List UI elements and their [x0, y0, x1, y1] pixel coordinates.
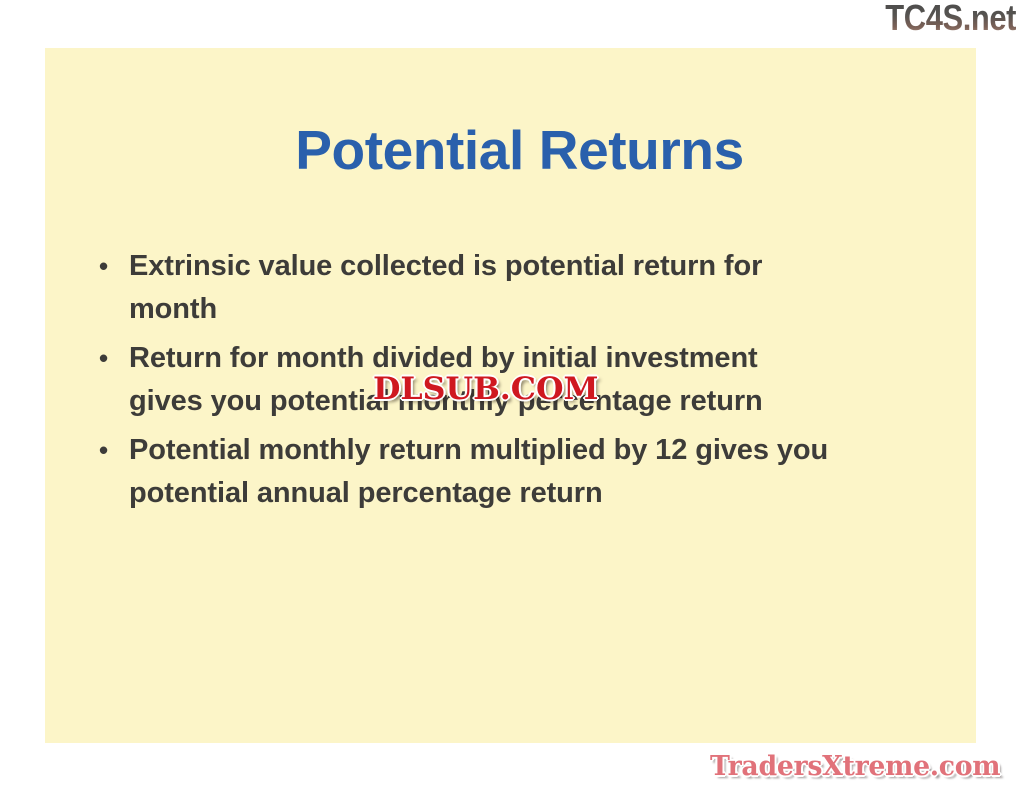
bullet-dot-icon: • [95, 429, 129, 472]
site-logo-top[interactable]: TC4S.net [885, 0, 1016, 38]
bullet-dot-icon: • [95, 245, 129, 288]
list-item: • Potential monthly return multiplied by… [95, 429, 945, 515]
watermark-overlay: DLSUB.COM [373, 374, 599, 405]
bullet-dot-icon: • [95, 337, 129, 380]
brand-logo-bottom[interactable]: TradersXtreme.com [710, 752, 1000, 782]
page-title: Potential Returns [45, 120, 976, 180]
list-item-label: Extrinsic value collected is potential r… [129, 245, 829, 331]
list-item-label: Potential monthly return multiplied by 1… [129, 429, 929, 515]
slide-page: { "top_logo": { "text": "TC4S.net", "gra… [0, 0, 1024, 791]
list-item: • Extrinsic value collected is potential… [95, 245, 945, 331]
